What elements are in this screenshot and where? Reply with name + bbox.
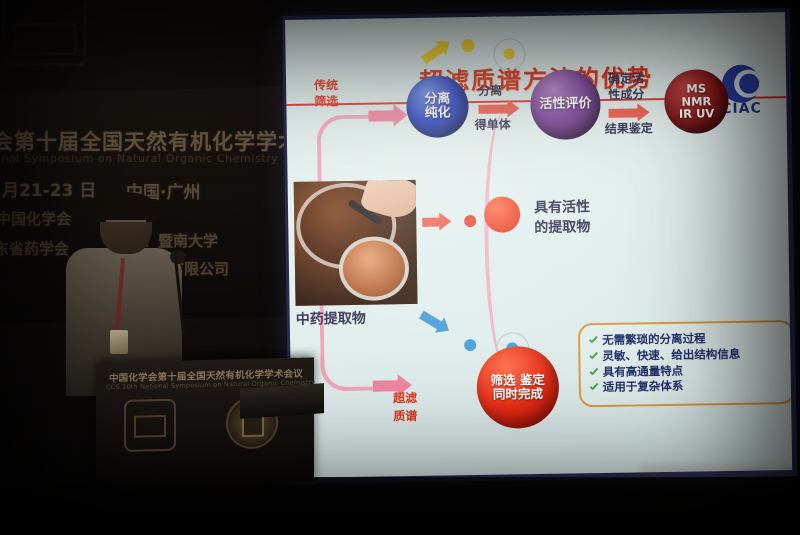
banner-host-1: 中国化学会 — [0, 208, 71, 229]
laptop — [240, 383, 324, 419]
wall-logo-icon — [2, 0, 86, 66]
ufms-result-line2: 同时完成 — [493, 386, 543, 402]
podium: 中国化学会第十届全国天然有机化学学术会议 CCS 10th National S… — [96, 357, 314, 486]
connector2-line1: 确定活 — [608, 72, 644, 86]
speaker-glasses-icon — [106, 220, 146, 230]
red-molecule-dot — [464, 215, 476, 227]
ufms-label-1: 超滤 — [393, 392, 417, 406]
pink-arrow-upper — [368, 110, 394, 121]
extraction-bowl — [338, 236, 409, 301]
microphone-icon — [170, 250, 186, 264]
blue-arrow-icon — [419, 311, 442, 330]
advantage-text: 灵敏、快速、给出结构信息 — [602, 348, 740, 364]
connector2-line3: 结果鉴定 — [605, 122, 653, 137]
traditional-screening-label-1: 传统 — [314, 79, 338, 93]
arrow-to-identification — [608, 108, 638, 117]
connector1-line1: 分离 — [478, 85, 502, 99]
red-arrow-icon — [422, 218, 440, 227]
ccs-emblem-icon — [124, 399, 176, 452]
tcm-extract-caption: 中药提取物 — [296, 311, 366, 328]
speaker-hair — [96, 192, 156, 222]
advantage-item: 适用于复杂体系 — [589, 379, 785, 396]
sphere-activity-evaluation: 活性评价 — [530, 69, 601, 140]
advantage-text: 具有高通量特点 — [603, 364, 684, 379]
ufms-label-2: 质谱 — [393, 410, 417, 424]
connector1-line2: 得单体 — [475, 118, 511, 132]
arrow-to-activity-eval — [478, 104, 508, 113]
check-icon — [588, 337, 597, 346]
sphere-ufms-result: 筛选 鉴定 同时完成 — [476, 346, 559, 429]
foreground-table — [0, 477, 800, 535]
identification-line3: IR UV — [679, 107, 715, 122]
banner-host-2: 东省药学会 — [0, 238, 69, 259]
banner-english-subtitle: onal Symposium on Natural Organic Chemis… — [0, 152, 279, 165]
yellow-molecule-dot — [461, 39, 474, 52]
herbal-extract-photo — [294, 180, 418, 306]
active-extract-label-2: 的提取物 — [534, 219, 590, 236]
screenshot-stage: 会第十届全国天然有机化学学术会议 onal Symposium on Natur… — [0, 0, 800, 535]
connector2-line2: 性成分 — [608, 88, 644, 102]
check-icon — [589, 369, 598, 378]
blue-molecule-dot — [464, 339, 476, 351]
active-extract-label-1: 具有活性 — [534, 199, 590, 216]
traditional-screening-label-2: 筛选 — [314, 95, 338, 109]
advantage-item: 无需繁琐的分离过程 — [588, 331, 784, 348]
pink-arrow-lower — [373, 380, 399, 391]
check-icon — [589, 384, 598, 393]
advantage-item: 灵敏、快速、给出结构信息 — [588, 347, 784, 364]
sphere-identification: MS NMR IR UV — [664, 69, 729, 134]
slide-surface: 超滤质谱方法的优势 CIAC 传统 筛选 分离 纯化 分离 得单体 活性评价 — [285, 12, 792, 478]
sphere-sep-line1: 分离 — [424, 91, 450, 106]
advantage-text: 适用于复杂体系 — [603, 380, 684, 395]
advantage-item: 具有高通量特点 — [589, 363, 785, 380]
sphere-sep-line2: 纯化 — [424, 105, 450, 120]
check-icon — [588, 353, 597, 362]
speaker-badge — [110, 330, 128, 354]
advantages-box: 无需繁琐的分离过程 灵敏、快速、给出结构信息 具有高通量特点 适用于复杂体系 — [578, 320, 792, 408]
advantage-text: 无需繁琐的分离过程 — [602, 332, 706, 347]
projection-screen: 超滤质谱方法的优势 CIAC 传统 筛选 分离 纯化 分离 得单体 活性评价 — [282, 8, 797, 484]
sphere-separation-purification: 分离 纯化 — [406, 75, 469, 138]
